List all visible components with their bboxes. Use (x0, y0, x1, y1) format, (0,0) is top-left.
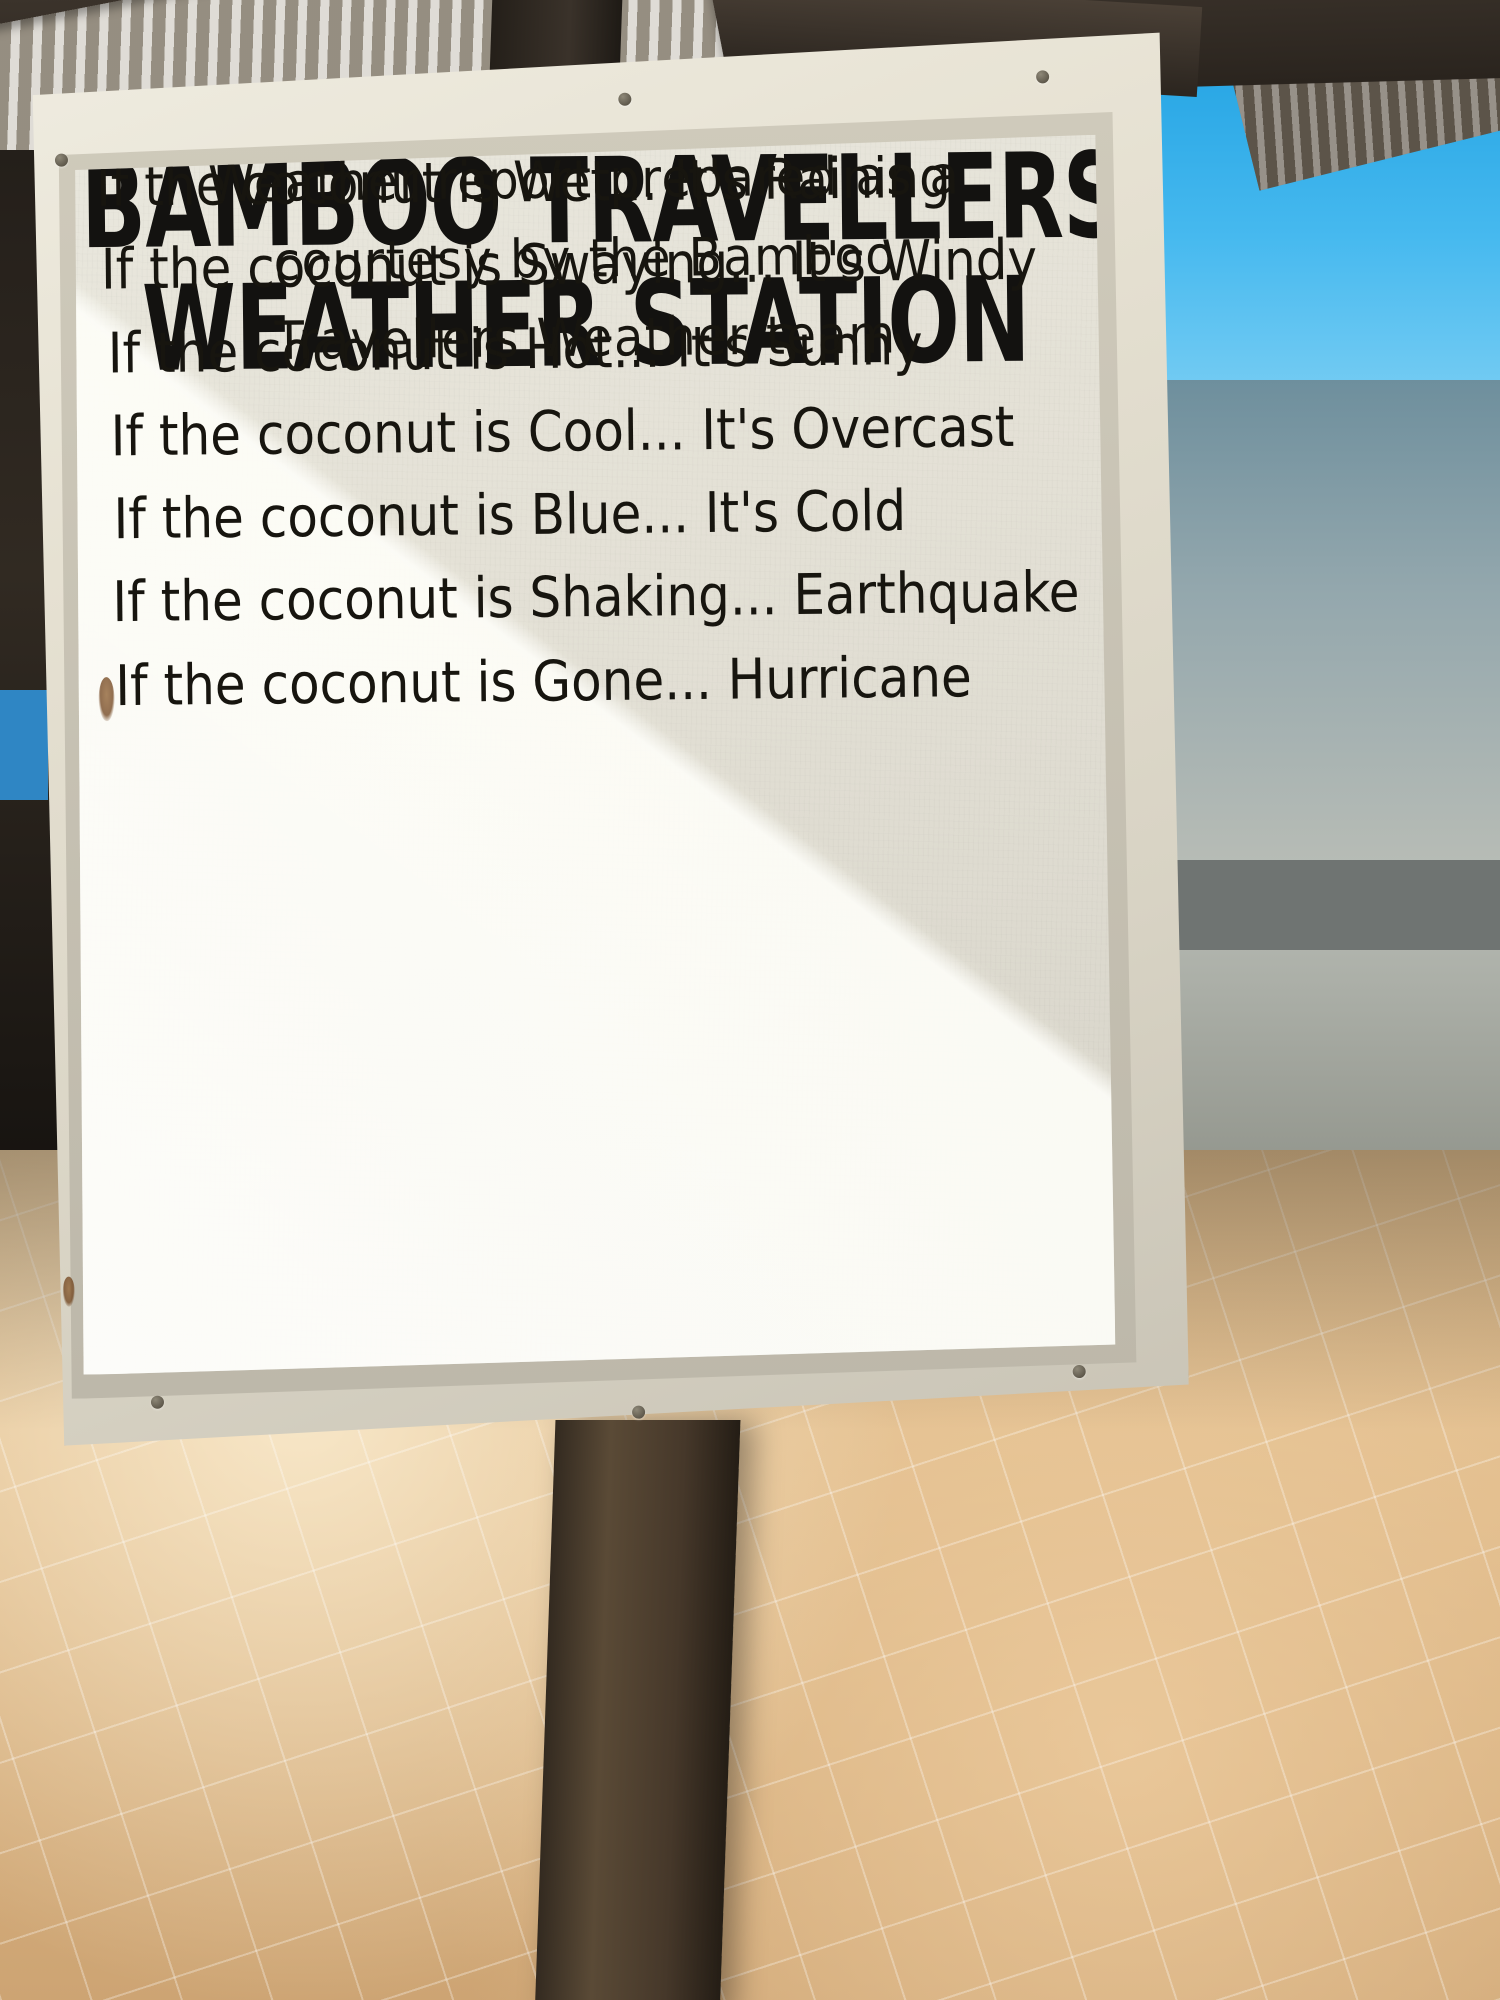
weather-station-sign: BAMBOO TRAVELLERS WEATHER STATION If the… (15, 24, 1190, 1446)
rule-line: If the coconut is Shaking... Earthquake (112, 551, 1087, 644)
sign-board-face: BAMBOO TRAVELLERS WEATHER STATION If the… (65, 135, 1116, 1375)
screw-icon (1073, 1364, 1086, 1377)
photo-scene: BAMBOO TRAVELLERS WEATHER STATION If the… (0, 0, 1500, 2000)
screw-icon (632, 1406, 645, 1419)
sign-credit-block: Weather report prepared as a courtesy by… (65, 135, 1106, 383)
background-right-buildings (1140, 380, 1500, 1210)
screw-icon (151, 1395, 164, 1408)
rule-line: If the coconut is Cool... It's Overcast (110, 384, 1085, 477)
credit-line-2: courtesy by the Bamboo (65, 214, 1104, 304)
background-road (1140, 860, 1500, 950)
sign-support-post (535, 1420, 741, 2000)
rust-stain (98, 677, 114, 721)
rule-line: If the coconut is Blue... It's Cold (113, 468, 1086, 561)
rust-stain (62, 1276, 74, 1306)
credit-line-3: Travellers Weather team (66, 293, 1105, 383)
rule-line: If the coconut is Gone... Hurricane (115, 634, 1088, 727)
screw-icon (1036, 70, 1049, 83)
